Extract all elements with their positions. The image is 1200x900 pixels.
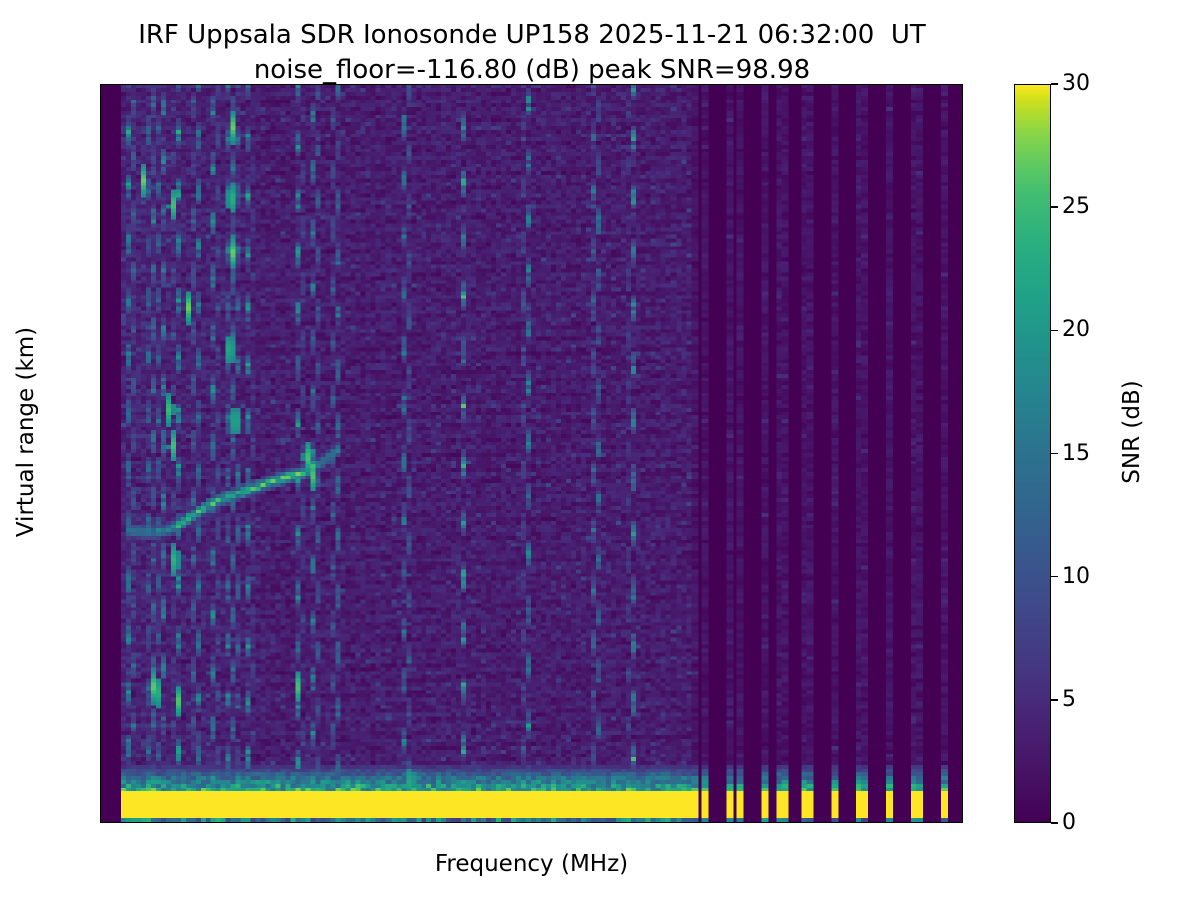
y-tick-mark [100,688,101,689]
title-line-1: IRF Uppsala SDR Ionosonde UP158 2025-11-… [0,18,1064,53]
title-line-2: noise_floor=-116.80 (dB) peak SNR=98.98 [0,53,1064,88]
x-tick-mark [708,822,709,823]
figure-title: IRF Uppsala SDR Ionosonde UP158 2025-11-… [0,18,1064,87]
y-tick-mark [100,326,101,327]
colorbar: 302520151050 [1014,84,1051,823]
colorbar-tick-mark [1051,822,1058,823]
x-tick-mark [602,822,603,823]
y-tick-mark [100,809,101,810]
x-tick-mark [390,822,391,823]
colorbar-tick-mark [1051,576,1058,577]
colorbar-tick-label: 20 [1062,316,1090,344]
colorbar-tick-mark [1051,453,1058,454]
x-tick-mark [496,822,497,823]
y-tick-mark [100,84,101,85]
y-tick-mark [100,447,101,448]
x-tick-mark [815,822,816,823]
colorbar-tick-label: 0 [1062,809,1076,837]
colorbar-gradient [1014,84,1051,823]
ionogram-heatmap [101,85,962,822]
colorbar-tick-label: 15 [1062,440,1090,468]
colorbar-tick-label: 10 [1062,563,1090,591]
colorbar-tick-mark [1051,330,1058,331]
colorbar-tick-mark [1051,83,1058,84]
colorbar-tick-mark [1051,206,1058,207]
x-tick-mark [921,822,922,823]
colorbar-tick-label: 30 [1062,70,1090,98]
ionogram-figure: IRF Uppsala SDR Ionosonde UP158 2025-11-… [0,0,1200,900]
colorbar-label: SNR (dB) [1119,282,1145,582]
x-tick-mark [177,822,178,823]
colorbar-tick-label: 25 [1062,193,1090,221]
x-axis-label: Frequency (MHz) [100,851,963,877]
y-tick-mark [100,567,101,568]
colorbar-tick-mark [1051,699,1058,700]
x-tick-mark [284,822,285,823]
y-axis-label: Virtual range (km) [13,282,39,582]
plot-area: 6005004003002001000 246810121416 [100,84,963,823]
y-tick-mark [100,205,101,206]
colorbar-tick-label: 5 [1062,686,1076,714]
